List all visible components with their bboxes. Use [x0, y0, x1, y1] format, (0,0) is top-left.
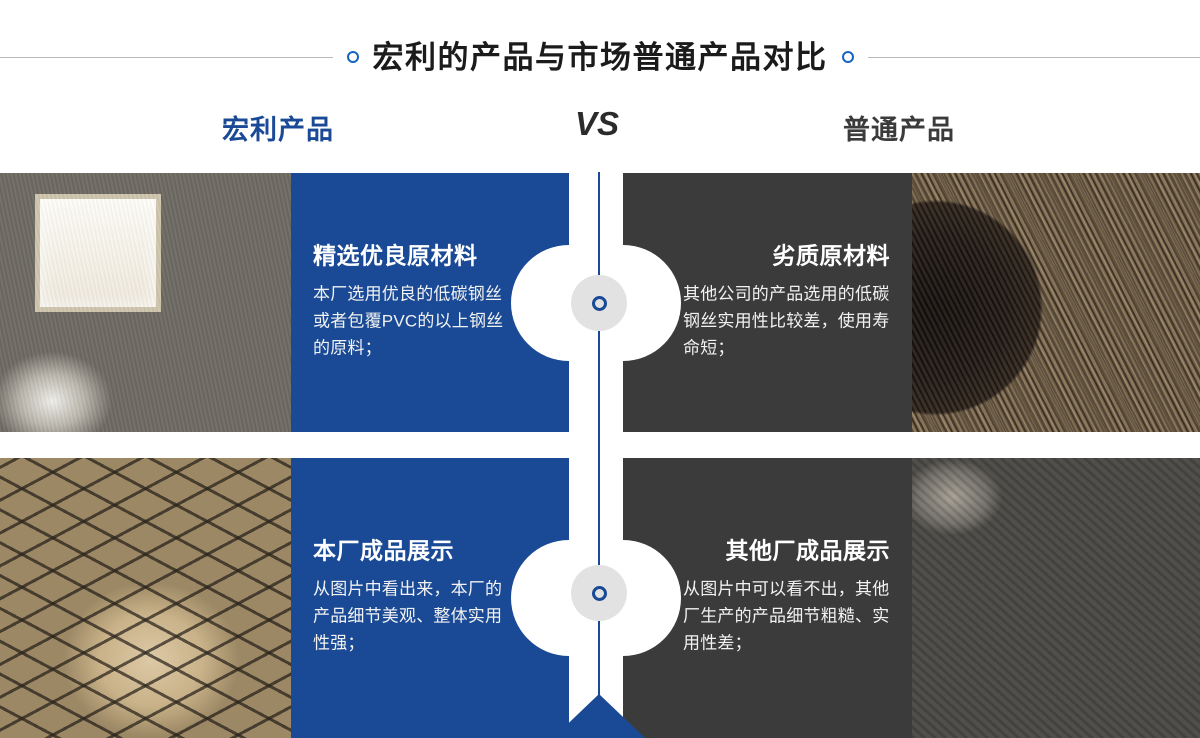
circle-node-icon — [571, 565, 627, 621]
timeline-spine — [598, 172, 600, 712]
panel-title: 本厂成品展示 — [313, 539, 509, 564]
panel-own-row-1: 精选优良原材料 本厂选用优良的低碳钢丝或者包覆PVC的以上钢丝的原料； — [291, 173, 569, 432]
photo-gabion-mesh-stone — [0, 458, 291, 738]
photo-texture — [912, 173, 1200, 432]
panel-text-block: 劣质原材料 其他公司的产品选用的低碳钢丝实用性比较差，使用寿命短； — [623, 243, 912, 362]
column-headers: 宏利产品 VS 普通产品 — [0, 108, 1200, 164]
panel-title: 精选优良原材料 — [313, 243, 509, 268]
column-header-own: 宏利产品 — [222, 108, 334, 147]
photo-texture — [0, 458, 291, 738]
page-title: 宏利的产品与市场普通产品对比 — [373, 42, 828, 73]
title-rule-left — [0, 57, 333, 58]
circle-node-icon — [571, 275, 627, 331]
node-inner-ring-icon — [592, 296, 607, 311]
panel-body: 从图片中看出来，本厂的产品细节美观、整体实用性强； — [313, 577, 509, 658]
panel-common-row-2: 其他厂成品展示 从图片中可以看不出，其他厂生产的产品细节粗糙、实用性差； — [623, 458, 912, 738]
title-rule-right — [868, 57, 1200, 58]
panel-common-row-1: 劣质原材料 其他公司的产品选用的低碳钢丝实用性比较差，使用寿命短； — [623, 173, 912, 432]
comparison-infographic: 宏利的产品与市场普通产品对比 宏利产品 VS 普通产品 精选优良原材料 本厂选用… — [0, 0, 1200, 738]
panel-body: 从图片中可以看不出，其他厂生产的产品细节粗糙、实用性差； — [683, 577, 890, 658]
panel-text-block: 其他厂成品展示 从图片中可以看不出，其他厂生产的产品细节粗糙、实用性差； — [623, 539, 912, 658]
panel-title: 劣质原材料 — [683, 243, 890, 268]
node-inner-ring-icon — [592, 586, 607, 601]
photo-texture — [912, 458, 1200, 738]
panel-body: 本厂选用优良的低碳钢丝或者包覆PVC的以上钢丝的原料； — [313, 281, 509, 362]
circle-outline-icon-left — [347, 51, 359, 63]
panel-body: 其他公司的产品选用的低碳钢丝实用性比较差，使用寿命短； — [683, 281, 890, 362]
page-title-bar: 宏利的产品与市场普通产品对比 — [0, 28, 1200, 86]
panel-title: 其他厂成品展示 — [683, 539, 890, 564]
panel-own-row-2: 本厂成品展示 从图片中看出来，本厂的产品细节美观、整体实用性强； — [291, 458, 569, 738]
column-header-common: 普通产品 — [843, 108, 955, 147]
triangle-up-icon — [553, 694, 645, 738]
photo-rough-stone-gabion — [912, 458, 1200, 738]
circle-outline-icon-right — [842, 51, 854, 63]
photo-steel-wire-coils — [0, 173, 291, 432]
photo-rusty-wire-coil — [912, 173, 1200, 432]
photo-texture — [0, 173, 291, 432]
column-header-vs: VS — [575, 105, 619, 143]
